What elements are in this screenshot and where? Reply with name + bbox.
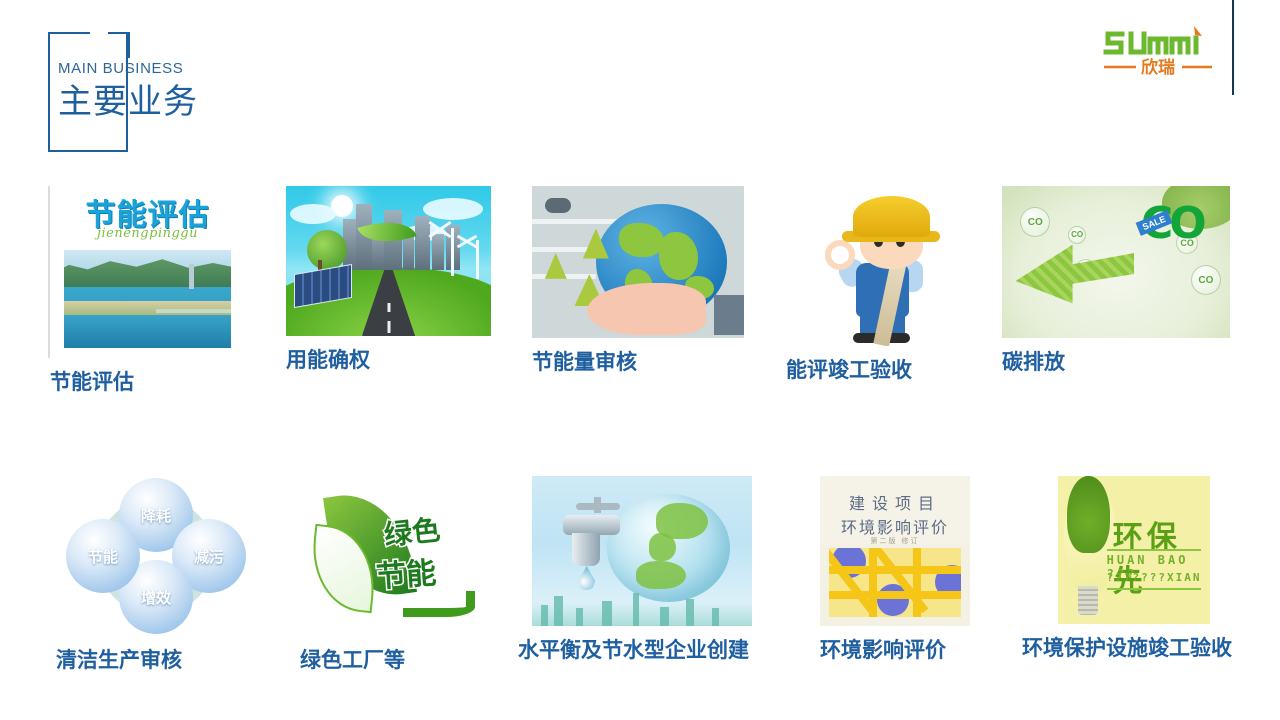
title-chinese: 主要业务	[58, 80, 198, 124]
building-shape	[415, 216, 430, 270]
card-image	[532, 476, 752, 626]
page-title: MAIN BUSINESS 主要业务	[58, 58, 198, 124]
cycle-diagram-art: 降耗 减污 增效 节能	[56, 476, 256, 636]
company-logo: 欣瑞	[1098, 22, 1218, 78]
service-card-energy-saving-assessment[interactable]: 节能评估 jienengpinggu 节能评估	[50, 186, 245, 396]
card-image: 建设项目 环境影响评价 第二版 修订	[820, 476, 970, 626]
poster-art: 节能评估 jienengpinggu	[50, 186, 245, 358]
skyline-silhouette	[660, 607, 669, 627]
book-subtitle: 第二版 修订	[820, 536, 970, 546]
globe-icon	[607, 494, 730, 602]
card-image	[286, 186, 491, 336]
continent-shape	[619, 223, 664, 258]
worker-cartoon-art	[786, 186, 961, 346]
co2-bubble: CO	[1020, 207, 1050, 237]
ok-gesture-hand-icon	[825, 240, 855, 270]
skyline-silhouette	[602, 601, 612, 627]
service-card-energy-rights-confirmation[interactable]: 用能确权	[286, 186, 491, 374]
skyline-silhouette	[633, 593, 639, 626]
bulb-base	[1078, 586, 1098, 616]
water-band	[64, 315, 231, 348]
card-label: 清洁生产审核	[56, 646, 256, 674]
header-divider	[1232, 0, 1234, 95]
arrow-swoosh-icon	[403, 591, 475, 617]
poster-pinyin: jienengpinggu	[50, 226, 245, 241]
continent-shape	[659, 232, 698, 281]
service-card-energy-saving-audit[interactable]: 节能量审核	[532, 186, 744, 376]
logo-text-line2: 节能	[375, 548, 438, 596]
card-label: 碳排放	[1002, 348, 1230, 376]
card-label: 用能确权	[286, 346, 491, 374]
tree-icon	[1067, 476, 1110, 553]
yellow-bar	[829, 591, 961, 599]
continent-shape	[636, 561, 685, 589]
service-card-carbon-emission[interactable]: CO CO CO CO CO CO SALE 碳排放	[1002, 186, 1230, 376]
tree-icon	[545, 253, 567, 279]
card-image: 绿色 节能	[300, 476, 490, 636]
card-label: 节能评估	[50, 368, 245, 396]
card-label: 水平衡及节水型企业创建	[518, 636, 794, 664]
divider-rule	[1107, 549, 1201, 551]
road-dash	[387, 321, 390, 333]
service-card-environmental-impact-assessment[interactable]: 建设项目 环境影响评价 第二版 修订	[820, 476, 996, 664]
card-label: 环境保护设施竣工验收	[1022, 634, 1262, 662]
skyline-silhouette	[541, 605, 548, 626]
card-label: 环境影响评价	[820, 636, 996, 664]
cloud-shape	[423, 198, 483, 220]
title-english: MAIN BUSINESS	[58, 58, 198, 80]
hand-shape	[587, 283, 706, 335]
skyline-silhouette	[686, 599, 694, 626]
book-cover-art: 建设项目 环境影响评价 第二版 修订	[820, 476, 970, 626]
book-graphic	[829, 548, 961, 617]
service-card-energy-acceptance-inspection[interactable]: 能评竣工验收	[786, 186, 961, 384]
road-dash	[387, 303, 390, 312]
divider-rule	[1107, 588, 1201, 590]
arrow-icon	[1016, 238, 1135, 308]
service-card-water-balance[interactable]: 水平衡及节水型企业创建	[518, 476, 794, 664]
hard-hat-icon	[853, 196, 930, 238]
faucet-spout	[572, 533, 601, 566]
book-title-line1: 建设项目	[820, 490, 970, 514]
slide-canvas: MAIN BUSINESS 主要业务 欣瑞	[0, 0, 1280, 720]
service-card-cleaner-production-audit[interactable]: 降耗 减污 增效 节能 清洁生产审核	[56, 476, 256, 674]
card-label: 节能量审核	[532, 348, 744, 376]
faucet-stem	[594, 497, 601, 513]
green-leaf-logo-art: 绿色 节能	[300, 476, 490, 636]
card-image: 环保先 HUAN BAO ??? ???????XIAN	[1058, 476, 1210, 624]
card-label: 能评竣工验收	[786, 356, 961, 384]
title-frame-top-right-segment	[108, 32, 130, 34]
faucet-body	[563, 515, 620, 535]
cloud-shape	[290, 204, 336, 224]
card-label: 绿色工厂等	[300, 646, 490, 674]
landscape-photo	[64, 250, 231, 348]
card-image: 降耗 减污 增效 节能	[56, 476, 256, 636]
faucet-globe-art	[532, 476, 752, 626]
svg-text:欣瑞: 欣瑞	[1141, 57, 1175, 78]
cycle-node-left: 节能	[66, 519, 140, 593]
hand-holding-earth-art	[532, 186, 744, 338]
eco-city-art	[286, 186, 491, 336]
book-title-line2: 环境影响评价	[820, 514, 970, 538]
service-card-green-factory[interactable]: 绿色 节能 绿色工厂等	[300, 476, 490, 674]
skyline-silhouette	[712, 608, 719, 626]
carbon-arrow-art: CO CO CO CO CO CO SALE	[1002, 186, 1230, 338]
tower-icon	[189, 264, 194, 289]
service-card-environmental-facility-acceptance[interactable]: 环保先 HUAN BAO ??? ???????XIAN 环境保护设施竣工验收	[1022, 476, 1262, 662]
sleeve-shape	[714, 295, 744, 335]
tank-icon	[545, 198, 571, 213]
pipe-line	[532, 219, 621, 224]
sunri-logo-icon: 欣瑞	[1098, 22, 1218, 78]
card-image: 节能评估 jienengpinggu	[50, 186, 245, 358]
bridge-shape	[156, 309, 231, 313]
continent-shape	[649, 533, 676, 561]
card-image	[532, 186, 744, 338]
co2-bubble: CO	[1068, 226, 1086, 244]
tree-icon	[307, 230, 347, 270]
water-drop-icon	[578, 566, 595, 590]
card-image: CO CO CO CO CO CO SALE	[1002, 186, 1230, 338]
skyline-silhouette	[576, 608, 583, 626]
eco-bulb-poster-art: 环保先 HUAN BAO ??? ???????XIAN	[1058, 476, 1210, 624]
card-image	[786, 186, 961, 346]
co2-bubble: CO	[1191, 265, 1221, 295]
poster-pinyin-line2: ???????XIAN	[1107, 571, 1202, 584]
building-shape	[432, 234, 444, 270]
skyline-silhouette	[554, 596, 563, 626]
title-frame-right-stub	[128, 32, 130, 58]
